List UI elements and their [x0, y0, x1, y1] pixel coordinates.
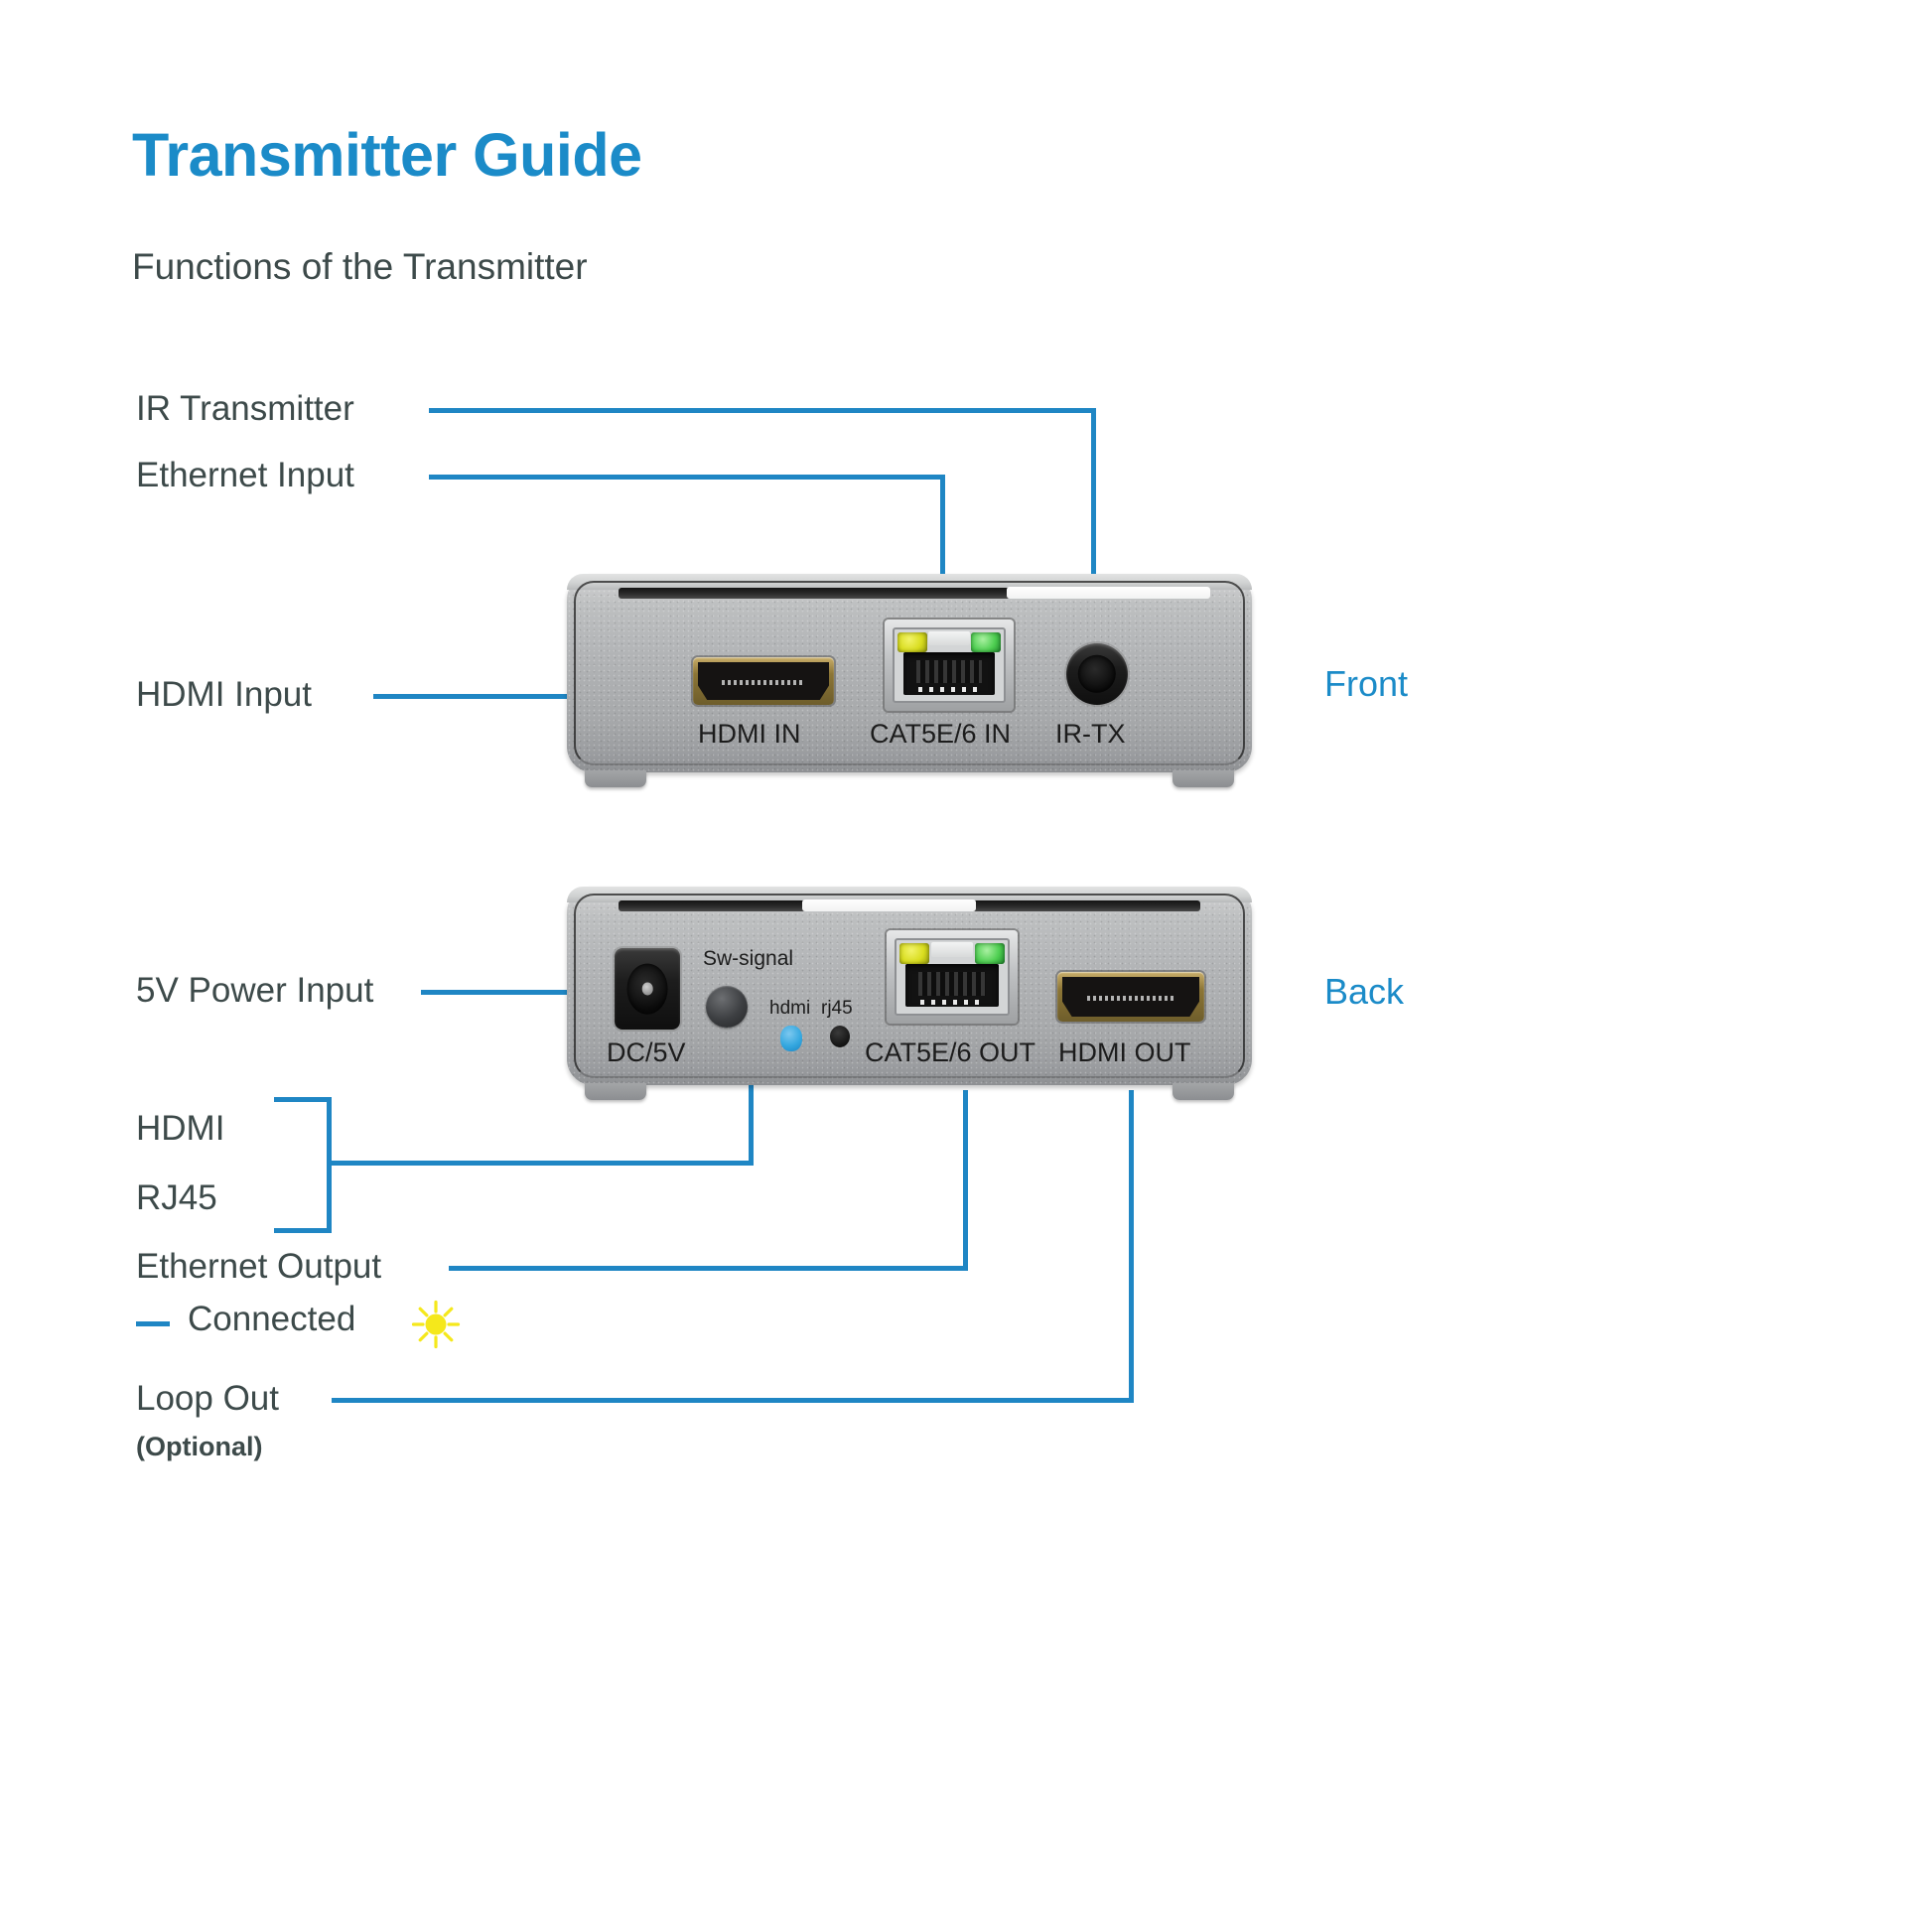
callout-label-power-input: 5V Power Input: [136, 972, 373, 1010]
page-subtitle: Functions of the Transmitter: [132, 248, 588, 285]
port-ir-tx: [1066, 643, 1128, 705]
port-cat5e6-out-cavity: [905, 964, 999, 1008]
led-activity-green-icon: [971, 632, 1001, 652]
chassis-foot-left: [585, 770, 646, 787]
device-front-panel: HDMI IN CAT5E/6 IN IR-TX: [567, 574, 1252, 772]
port-dc-5v-pin: [642, 982, 653, 995]
port-cat5e6-out-goldpins: [920, 1000, 984, 1005]
callout-label-rj45-indicator: RJ45: [136, 1179, 217, 1217]
port-cat5e6-in-shell: [893, 627, 1006, 703]
chassis-foot-right-back: [1173, 1083, 1234, 1100]
leader-line-loop-out-h: [332, 1398, 1134, 1403]
silk-label-hdmi-out: HDMI OUT: [1058, 1037, 1190, 1068]
view-label-back: Back: [1324, 971, 1404, 1013]
port-cat5e6-in-goldpins: [918, 687, 981, 692]
port-hdmi-out-pins: [1087, 996, 1174, 1001]
callout-label-ir-transmitter: IR Transmitter: [136, 390, 354, 428]
page-title: Transmitter Guide: [132, 125, 642, 186]
callout-label-hdmi-indicator: HDMI: [136, 1110, 224, 1148]
port-cat5e6-out-shell: [895, 938, 1010, 1016]
dash-icon: [136, 1321, 170, 1326]
port-cat5e6-in-cavity: [903, 652, 995, 695]
leader-line-bracket-bottom: [274, 1228, 332, 1233]
leader-line-loop-out-v: [1129, 1090, 1134, 1401]
port-hdmi-in: [693, 657, 834, 705]
port-cat5e6-in-contacts: [916, 660, 983, 683]
callout-label-ethernet-output-status: Connected: [188, 1301, 355, 1338]
port-cat5e6-out-tab: [931, 942, 974, 957]
port-hdmi-in-mouth: [698, 662, 829, 700]
silk-label-ir-tx: IR-TX: [1055, 719, 1126, 750]
port-hdmi-in-pins: [722, 680, 806, 685]
chassis-foot-right: [1173, 770, 1234, 787]
silk-label-hdmi-in: HDMI IN: [698, 719, 801, 750]
port-ir-tx-hole: [1078, 655, 1116, 693]
chassis-top-highlight: [1007, 587, 1210, 599]
chassis-top-highlight-back: [802, 899, 976, 911]
leader-line-ir-transmitter-h: [429, 408, 1096, 413]
silk-label-sw-signal: Sw-signal: [703, 947, 793, 971]
callout-label-loop-out-note: (Optional): [136, 1433, 262, 1461]
silk-label-cat5e6-out: CAT5E/6 OUT: [865, 1037, 1035, 1068]
led-link-yellow-back-icon: [899, 943, 929, 964]
led-rj45-icon: [830, 1026, 850, 1047]
silk-label-rj45-led: rj45: [821, 998, 853, 1020]
leader-line-bracket-stem-h: [327, 1161, 754, 1166]
leader-line-ethernet-output-h: [449, 1266, 968, 1271]
port-cat5e6-out-contacts: [918, 972, 986, 996]
silk-label-hdmi-led: hdmi: [769, 998, 810, 1020]
leader-line-bracket-top: [274, 1097, 332, 1102]
sun-icon: [410, 1299, 462, 1355]
callout-label-ethernet-output: Ethernet Output: [136, 1248, 381, 1286]
port-cat5e6-in: [885, 620, 1014, 711]
port-cat5e6-out: [887, 930, 1018, 1024]
led-link-yellow-icon: [897, 632, 927, 652]
port-hdmi-out: [1057, 972, 1204, 1022]
button-sw-signal[interactable]: [706, 986, 748, 1028]
port-dc-5v: [615, 948, 680, 1030]
silk-label-cat5e6-in: CAT5E/6 IN: [870, 719, 1011, 750]
ethernet-output-status-row: Connected: [136, 1301, 513, 1346]
device-back-panel: Sw-signal hdmi rj45 DC/5V CAT5E/6 OUT HD…: [567, 887, 1252, 1085]
callout-label-ethernet-input: Ethernet Input: [136, 457, 354, 494]
port-hdmi-out-mouth: [1062, 977, 1199, 1017]
leader-line-ethernet-input-h: [429, 475, 945, 480]
leader-line-ethernet-output-v: [963, 1090, 968, 1269]
led-hdmi-icon: [780, 1026, 802, 1051]
silk-label-dc-5v: DC/5V: [607, 1037, 686, 1068]
callout-label-hdmi-input: HDMI Input: [136, 676, 312, 714]
callout-label-loop-out: Loop Out: [136, 1380, 279, 1418]
port-cat5e6-in-tab: [928, 631, 970, 645]
led-activity-green-back-icon: [975, 943, 1005, 964]
view-label-front: Front: [1324, 663, 1408, 705]
chassis-foot-left-back: [585, 1083, 646, 1100]
